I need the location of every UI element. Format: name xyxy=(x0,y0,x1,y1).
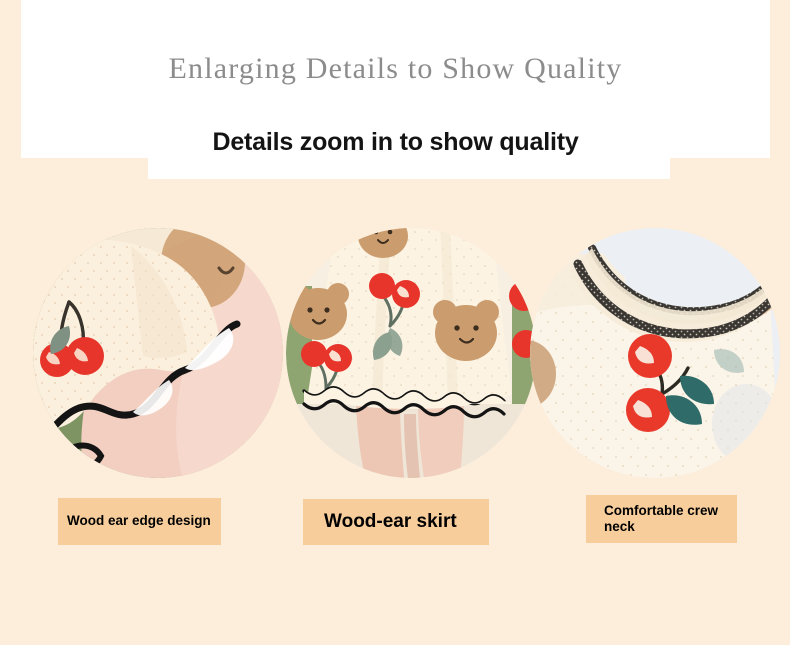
page-title-bold: Details zoom in to show quality xyxy=(21,128,770,157)
caption-label-wood-ear-skirt: Wood-ear skirt xyxy=(324,510,457,533)
page-root: Enlarging Details to Show Quality Detail… xyxy=(0,0,790,645)
detail-photo-comfortable-crew-neck xyxy=(530,228,780,478)
detail-photo-wood-ear-skirt xyxy=(286,228,536,478)
caption-box-wood-ear-edge: Wood ear edge design xyxy=(58,498,221,545)
page-title-serif: Enlarging Details to Show Quality xyxy=(21,52,770,86)
caption-label-comfortable-crew-neck: Comfortable crew neck xyxy=(604,503,729,536)
caption-label-wood-ear-edge: Wood ear edge design xyxy=(67,513,211,529)
caption-box-comfortable-crew-neck: Comfortable crew neck xyxy=(586,495,737,543)
header-white-strip xyxy=(148,158,670,179)
detail-photo-wood-ear-edge xyxy=(33,228,283,478)
caption-box-wood-ear-skirt: Wood-ear skirt xyxy=(303,499,489,545)
